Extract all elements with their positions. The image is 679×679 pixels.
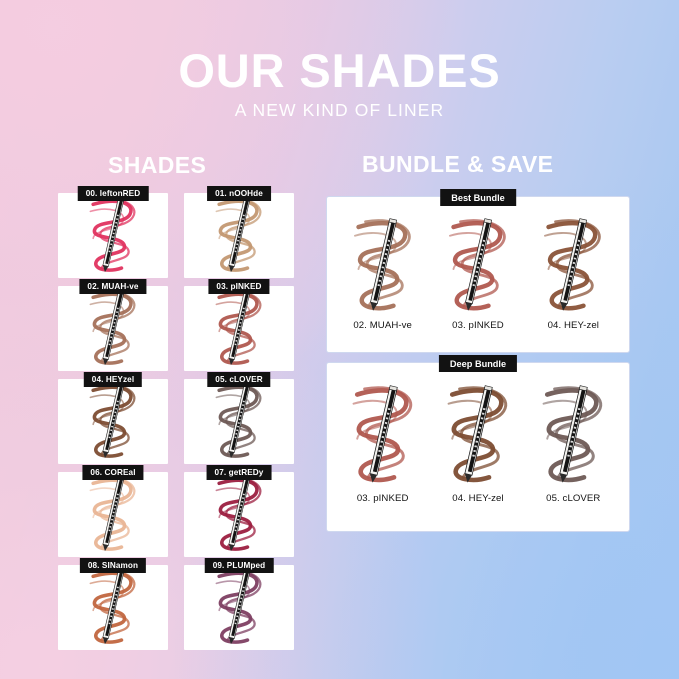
- bundle-item-label: 03. pINKED: [452, 320, 504, 331]
- bundle-swatch-art: [527, 379, 619, 491]
- bundle-item-label: 02. MUAH-ve: [353, 320, 412, 331]
- bundle-panel-best[interactable]: Best Bundle 02. MUAH-ve03. pINKED04. HEY…: [326, 196, 630, 353]
- page-subtitle: A NEW KIND OF LINER: [0, 100, 679, 121]
- bundle-swatch-art: [337, 213, 429, 318]
- shade-label-badge: 00. leftonRED: [78, 186, 149, 201]
- shade-card[interactable]: 06. COREal: [58, 472, 168, 557]
- shade-label-badge: 07. getREDy: [207, 465, 272, 480]
- shade-swatch-art: [184, 286, 294, 371]
- shades-grid: 00. leftonRED01. nOOHde02. MUAH-ve03. pI…: [58, 193, 294, 652]
- bundle-items-row: 02. MUAH-ve03. pINKED04. HEY-zel: [335, 213, 621, 346]
- shade-label-badge: 06. COREal: [82, 465, 143, 480]
- swatch-stroke-icon: [184, 286, 294, 371]
- shade-swatch-art: [184, 565, 294, 650]
- shade-label-badge: 09. PLUMped: [205, 558, 274, 573]
- shade-swatch-art: [184, 472, 294, 557]
- bundle-item[interactable]: 03. pINKED: [432, 213, 524, 331]
- swatch-stroke-icon: [337, 213, 429, 318]
- shade-swatch-art: [58, 379, 168, 464]
- bundle-panel-deep[interactable]: Deep Bundle 03. pINKED04. HEY-zel05. cLO…: [326, 362, 630, 532]
- shade-label-badge: 08. SINamon: [80, 558, 146, 573]
- shade-card[interactable]: 08. SINamon: [58, 565, 168, 650]
- shade-card[interactable]: 07. getREDy: [184, 472, 294, 557]
- bundle-item[interactable]: 02. MUAH-ve: [337, 213, 429, 331]
- bundle-item[interactable]: 04. HEY-zel: [432, 379, 524, 504]
- page-header: OUR SHADES A NEW KIND OF LINER: [0, 46, 679, 121]
- shade-card[interactable]: 05. cLOVER: [184, 379, 294, 464]
- shade-swatch-art: [184, 379, 294, 464]
- swatch-stroke-icon: [184, 379, 294, 464]
- shade-card[interactable]: 00. leftonRED: [58, 193, 168, 278]
- swatch-stroke-icon: [58, 286, 168, 371]
- shade-swatch-art: [58, 472, 168, 557]
- shade-swatch-art: [184, 193, 294, 278]
- section-title-bundle: BUNDLE & SAVE: [362, 151, 553, 178]
- swatch-stroke-icon: [58, 565, 168, 650]
- shade-label-badge: 02. MUAH-ve: [79, 279, 146, 294]
- bundle-swatch-art: [432, 379, 524, 491]
- bundle-name-badge: Deep Bundle: [439, 355, 517, 372]
- bundle-item-label: 03. pINKED: [357, 493, 409, 504]
- shade-card[interactable]: 09. PLUMped: [184, 565, 294, 650]
- shade-card[interactable]: 04. HEYzel: [58, 379, 168, 464]
- swatch-stroke-icon: [58, 472, 168, 557]
- swatch-stroke-icon: [58, 379, 168, 464]
- bundle-item-label: 05. cLOVER: [546, 493, 600, 504]
- section-title-shades: SHADES: [108, 152, 206, 179]
- shade-label-badge: 01. nOOHde: [207, 186, 271, 201]
- shade-card[interactable]: 01. nOOHde: [184, 193, 294, 278]
- shade-card[interactable]: 03. pINKED: [184, 286, 294, 371]
- shade-swatch-art: [58, 193, 168, 278]
- page-root: OUR SHADES A NEW KIND OF LINER SHADES BU…: [0, 0, 679, 679]
- shade-card[interactable]: 02. MUAH-ve: [58, 286, 168, 371]
- bundle-items-row: 03. pINKED04. HEY-zel05. cLOVER: [335, 379, 621, 525]
- bundle-item-label: 04. HEY-zel: [548, 320, 599, 331]
- swatch-stroke-icon: [337, 379, 429, 491]
- bundle-swatch-art: [337, 379, 429, 491]
- swatch-stroke-icon: [184, 472, 294, 557]
- bundle-item-label: 04. HEY-zel: [452, 493, 503, 504]
- swatch-stroke-icon: [58, 193, 168, 278]
- swatch-stroke-icon: [184, 193, 294, 278]
- bundle-item[interactable]: 04. HEY-zel: [527, 213, 619, 331]
- swatch-stroke-icon: [184, 565, 294, 650]
- bundle-name-badge: Best Bundle: [440, 189, 516, 206]
- swatch-stroke-icon: [432, 379, 524, 491]
- shade-swatch-art: [58, 565, 168, 650]
- bundle-item[interactable]: 05. cLOVER: [527, 379, 619, 504]
- swatch-stroke-icon: [527, 379, 619, 491]
- shade-label-badge: 03. pINKED: [208, 279, 269, 294]
- bundle-item[interactable]: 03. pINKED: [337, 379, 429, 504]
- shade-swatch-art: [58, 286, 168, 371]
- shade-label-badge: 05. cLOVER: [207, 372, 270, 387]
- shade-label-badge: 04. HEYzel: [84, 372, 142, 387]
- bundle-swatch-art: [432, 213, 524, 318]
- swatch-stroke-icon: [527, 213, 619, 318]
- page-title: OUR SHADES: [0, 46, 679, 95]
- swatch-stroke-icon: [432, 213, 524, 318]
- bundle-swatch-art: [527, 213, 619, 318]
